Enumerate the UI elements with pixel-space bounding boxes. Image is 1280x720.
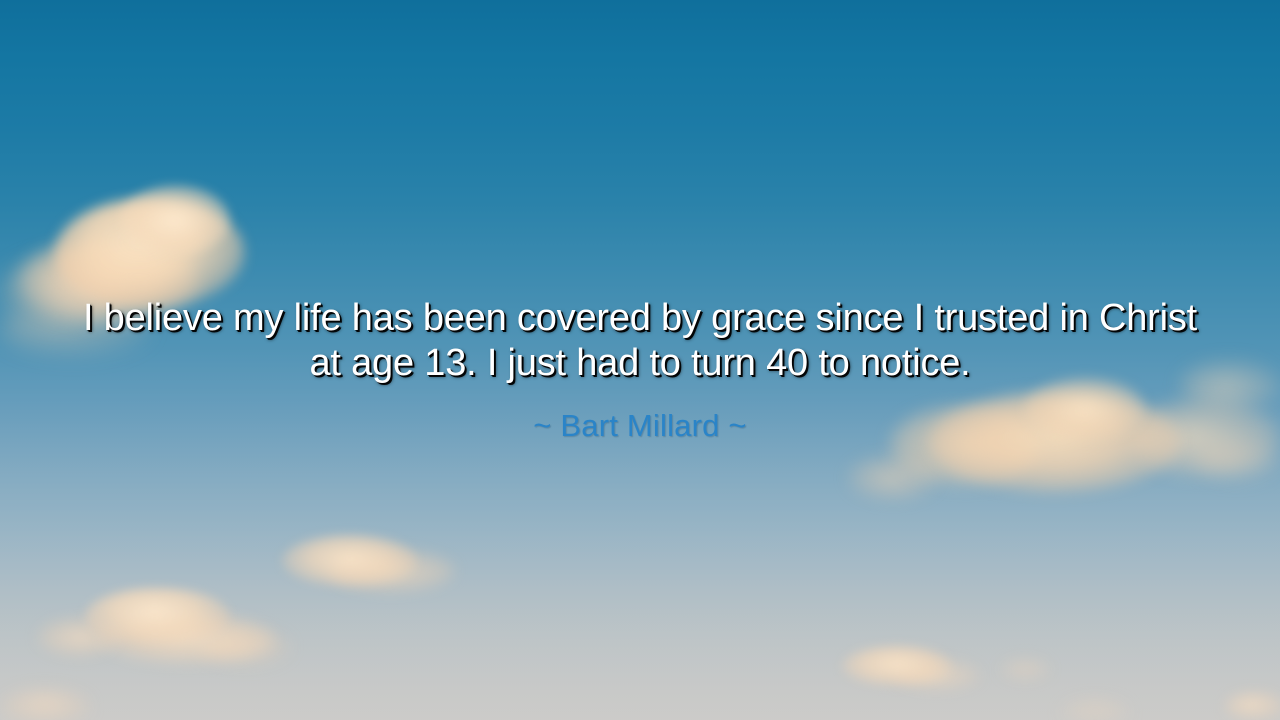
quote-text: I believe my life has been covered by gr… xyxy=(70,296,1210,386)
quote-attribution: ~ Bart Millard ~ xyxy=(70,408,1210,444)
quote-card: I believe my life has been covered by gr… xyxy=(0,0,1280,720)
quote-block: I believe my life has been covered by gr… xyxy=(70,296,1210,386)
text-overlay: I believe my life has been covered by gr… xyxy=(0,0,1280,720)
